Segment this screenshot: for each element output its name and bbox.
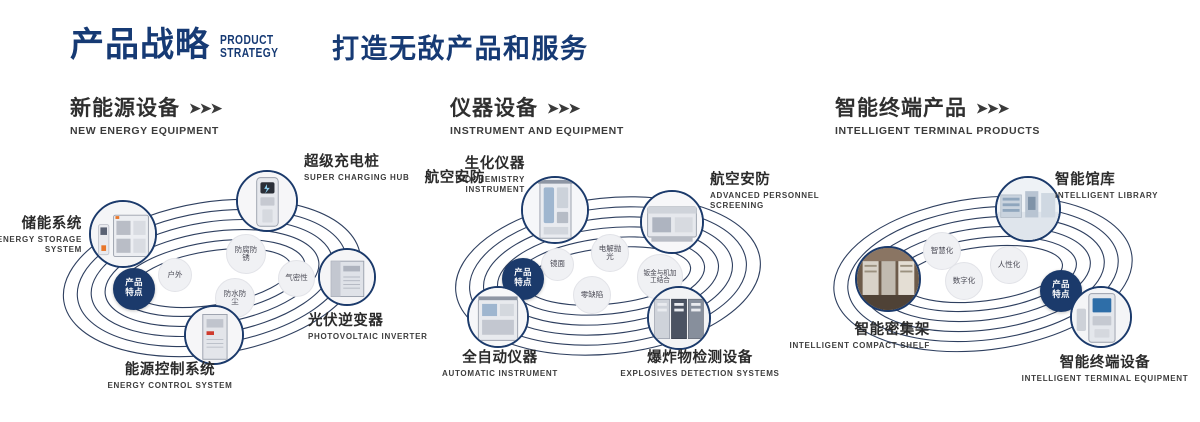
- page-title-en: PRODUCT STRATEGY: [220, 34, 278, 60]
- feature-pill-airtight: 气密性: [278, 260, 315, 297]
- feature-pill-label: 智慧化: [928, 247, 956, 255]
- node-label-cn: 智能馆库: [1055, 172, 1158, 189]
- label-intelligent-compact-shelf: 智能密集架 INTELLIGENT COMPACT SHELF: [760, 322, 930, 351]
- node-label-cn: 智能密集架: [760, 322, 930, 339]
- feature-pill-humanized: 人性化: [990, 246, 1028, 284]
- section-heading-instrument: 仪器设备 ➤➤➤ INSTRUMENT AND EQUIPMENT: [450, 96, 624, 137]
- center-pill-product-features: 产品 特点: [113, 268, 155, 310]
- feature-pill-label: 数字化: [950, 277, 978, 285]
- feature-pill-mirror: 镜面: [541, 248, 574, 281]
- section-title-text: 新能源设备: [70, 96, 180, 120]
- section-heading-cn: 新能源设备 ➤➤➤: [70, 96, 221, 120]
- node-label-en: INTELLIGENT LIBRARY: [1055, 191, 1158, 201]
- label-aviation-security-secondary: 航空安防: [385, 170, 485, 187]
- node-label-cn: 光伏逆变器: [308, 313, 428, 330]
- chevron-right-icon: ➤➤➤: [547, 100, 579, 116]
- section-heading-en: NEW ENERGY EQUIPMENT: [70, 125, 221, 137]
- feature-pill-label: 镜面: [550, 260, 565, 268]
- label-energy-control-system: 能源控制系统 ENERGY CONTROL SYSTEM: [85, 362, 255, 391]
- label-intelligent-terminal-equipment: 智能终端设备 INTELLIGENT TERMINAL EQUIPMENT: [1010, 355, 1200, 384]
- page-title-en-line2: STRATEGY: [220, 47, 278, 60]
- product-strategy-infographic: 产品战略 PRODUCT STRATEGY 打造无敌产品和服务 新能源设备 ➤➤…: [0, 0, 1200, 422]
- node-label-en: ENERGY CONTROL SYSTEM: [85, 381, 255, 391]
- chevron-right-icon: ➤➤➤: [189, 100, 221, 116]
- node-label-en: EXPLOSIVES DETECTION SYSTEMS: [600, 369, 800, 379]
- biochem-analyzer-icon: [523, 178, 587, 242]
- feature-pill-zero-defect: 零缺陷: [573, 276, 611, 314]
- page-title: 产品战略 PRODUCT STRATEGY: [70, 28, 291, 62]
- page-title-cn: 产品战略: [70, 28, 210, 62]
- node-intelligent-terminal-equipment[interactable]: [1070, 286, 1132, 348]
- node-label-cn: 能源控制系统: [85, 362, 255, 379]
- node-label-en: PHOTOVOLTAIC INVERTER: [308, 332, 428, 342]
- node-photovoltaic-inverter[interactable]: [318, 248, 376, 306]
- feature-pill-anticorrosion: 防腐防锈: [226, 234, 266, 274]
- label-energy-storage-system: 储能系统 ENERGY STORAGE SYSTEM: [0, 216, 82, 255]
- node-label-cn: 储能系统: [0, 216, 82, 233]
- section-heading-cn: 仪器设备 ➤➤➤: [450, 96, 624, 120]
- feature-pill-label: 电解抛光: [597, 245, 623, 262]
- center-pill-line2: 特点: [1052, 291, 1070, 301]
- node-label-cn: 爆炸物检测设备: [600, 350, 800, 367]
- label-explosives-detection: 爆炸物检测设备 EXPLOSIVES DETECTION SYSTEMS: [600, 350, 800, 379]
- cluster-intelligent-terminal: 智慧化 数字化 人性化 产品 特点: [815, 150, 1200, 400]
- node-energy-control-system[interactable]: [184, 305, 244, 365]
- feature-pill-electropolishing: 电解抛光: [591, 234, 629, 272]
- feature-pill-digital: 数字化: [945, 262, 983, 300]
- section-heading-en: INSTRUMENT AND EQUIPMENT: [450, 125, 624, 137]
- feature-pill-label: 防腐防锈: [233, 246, 259, 263]
- node-label-cn: 全自动仪器: [420, 350, 580, 367]
- label-advanced-personnel-screening: 航空安防 ADVANCED PERSONNEL SCREENING: [710, 172, 820, 211]
- node-label-cn: 智能终端设备: [1010, 355, 1200, 372]
- feature-pill-label: 人性化: [995, 261, 1023, 269]
- node-label-en: AUTOMATIC INSTRUMENT: [420, 369, 580, 379]
- node-explosives-detection[interactable]: [647, 286, 711, 350]
- feature-pill-label: 气密性: [284, 274, 310, 282]
- section-heading-en: INTELLIGENT TERMINAL PRODUCTS: [835, 125, 1040, 137]
- section-heading-new-energy: 新能源设备 ➤➤➤ NEW ENERGY EQUIPMENT: [70, 96, 221, 137]
- page-tagline: 打造无敌产品和服务: [332, 36, 589, 63]
- node-label-en: ENERGY STORAGE SYSTEM: [0, 235, 82, 255]
- cluster-instrument: 镜面 电解抛光 钣金与机加工结合 零缺陷 产品 特点: [425, 150, 815, 400]
- node-label-en: INTELLIGENT COMPACT SHELF: [760, 341, 930, 351]
- control-cabinet-icon: [186, 307, 242, 363]
- section-title-text: 仪器设备: [450, 96, 538, 120]
- cluster-new-energy: 户外 防腐防锈 防水防尘 气密性 产品 特点: [40, 150, 420, 400]
- node-intelligent-compact-shelf[interactable]: [855, 246, 921, 312]
- center-pill-line2: 特点: [125, 289, 143, 299]
- node-advanced-personnel-screening[interactable]: [640, 190, 704, 254]
- section-heading-intelligent-terminal: 智能终端产品 ➤➤➤ INTELLIGENT TERMINAL PRODUCTS: [835, 96, 1040, 137]
- feature-pill-label: 防水防尘: [222, 290, 248, 307]
- kiosk-terminal-icon: [1072, 288, 1130, 346]
- feature-pill-label: 钣金与机加工结合: [643, 270, 677, 285]
- library-shelf-icon: [997, 178, 1059, 240]
- chevron-right-icon: ➤➤➤: [976, 100, 1008, 116]
- node-label-cn: 航空安防: [385, 170, 485, 187]
- detection-rack-icon: [649, 288, 709, 348]
- section-title-text: 智能终端产品: [835, 96, 967, 120]
- feature-pill-label: 零缺陷: [578, 291, 606, 299]
- label-intelligent-library: 智能馆库 INTELLIGENT LIBRARY: [1055, 172, 1158, 201]
- compact-shelf-icon: [857, 248, 919, 310]
- section-heading-cn: 智能终端产品 ➤➤➤: [835, 96, 1040, 120]
- screening-machine-icon: [642, 192, 702, 252]
- node-label-cn: 超级充电桩: [304, 154, 410, 171]
- auto-instrument-icon: [469, 288, 527, 346]
- node-label-en: ADVANCED PERSONNEL SCREENING: [710, 191, 820, 211]
- feature-pill-outdoor: 户外: [158, 258, 192, 292]
- feature-pill-label: 户外: [168, 271, 183, 279]
- charging-pile-icon: [238, 172, 296, 230]
- node-automatic-instrument[interactable]: [467, 286, 529, 348]
- battery-cabinet-icon: [91, 202, 155, 266]
- node-label-cn: 航空安防: [710, 172, 820, 189]
- node-intelligent-library[interactable]: [995, 176, 1061, 242]
- node-biochemistry-instrument[interactable]: [521, 176, 589, 244]
- node-energy-storage-system[interactable]: [89, 200, 157, 268]
- node-label-en: INTELLIGENT TERMINAL EQUIPMENT: [1010, 374, 1200, 384]
- label-photovoltaic-inverter: 光伏逆变器 PHOTOVOLTAIC INVERTER: [308, 313, 428, 342]
- node-super-charging-hub[interactable]: [236, 170, 298, 232]
- label-automatic-instrument: 全自动仪器 AUTOMATIC INSTRUMENT: [420, 350, 580, 379]
- inverter-icon: [320, 250, 374, 304]
